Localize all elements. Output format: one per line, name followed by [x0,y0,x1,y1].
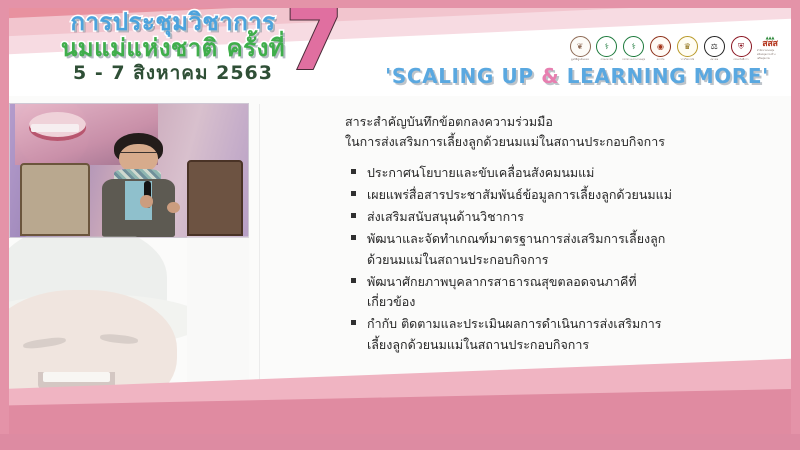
list-item: พัฒนาศักยภาพบุคลากรสาธารณสุขตลอดจนภาคีที… [345,272,775,313]
square-bullet-icon [351,320,356,325]
sponsor-logo-row: ❦ มูลนิธิศูนย์นมแม่ ⚕ กรมอนามัย ⚕ กระทรว… [569,34,783,64]
glasses-icon [120,152,156,159]
slide-content: สาระสำคัญบันทึกข้อตกลงความร่วมมือ ในการส… [345,112,775,357]
slide-header-banner: การประชุมวิชาการ นมแม่แห่งชาติ ครั้งที่ … [9,8,791,96]
photo-chair-right [187,160,243,236]
square-bullet-icon [351,235,356,240]
square-bullet-icon [351,278,356,283]
logo-caption: กรมสวัสดิการ [733,58,748,62]
logo-glyph: ♛ [677,36,698,57]
speaker-hand-right [167,202,180,213]
logo-caption: กรมอนามัย [601,58,614,62]
square-bullet-icon [351,169,356,174]
footer-band [0,434,800,450]
logo-glyph: ❦ [570,36,591,57]
list-item-text: พัฒนาศักยภาพบุคลากรสาธารณสุขตลอดจนภาคีที… [367,272,775,313]
list-item: เผยแพร่สื่อสารประชาสัมพันธ์ข้อมูลการเลี้… [345,185,775,205]
square-bullet-icon [351,191,356,196]
slide-page: การประชุมวิชาการ นมแม่แห่งชาติ ครั้งที่ … [9,8,791,442]
list-item-text: เผยแพร่สื่อสารประชาสัมพันธ์ข้อมูลการเลี้… [367,185,775,205]
conference-title-line1: การประชุมวิชาการ [23,10,323,34]
red-crest-seal-logo: ⛨ กรมสวัสดิการ [730,36,752,62]
list-item-text: กำกับ ติดตามและประเมินผลการดำเนินการส่งเ… [367,314,775,355]
list-item: กำกับ ติดตามและประเมินผลการดำเนินการส่งเ… [345,314,775,355]
content-bullet-list: ประกาศนโยบายและขับเคลื่อนสังคมนมแม่ เผยแ… [345,163,775,355]
speaker-photo [9,103,249,238]
presentation-slide: การประชุมวิชาการ นมแม่แห่งชาติ ครั้งที่ … [0,0,800,450]
logo-glyph: ⚖ [704,36,725,57]
logo-glyph: ◉ [650,36,671,57]
logo-glyph: ⛨ [731,36,752,57]
list-item-text: พัฒนาและจัดทำเกณฑ์มาตรฐานการส่งเสริมการเ… [367,229,775,270]
conference-tagline: 'SCALING UP & LEARNING MORE' [367,64,787,88]
conference-title-line2: นมแม่แห่งชาติ ครั้งที่ [23,36,323,60]
square-bullet-icon [351,213,356,218]
list-item: ส่งเสริมสนับสนุนด้านวิชาการ [345,207,775,227]
logo-caption: สมาคม [710,58,718,62]
list-item: ประกาศนโยบายและขับเคลื่อนสังคมนมแม่ [345,163,775,183]
photo-screen-teeth [31,124,79,132]
conference-date: 5 - 7 สิงหาคม 2563 [23,64,323,83]
list-item-text: ประกาศนโยบายและขับเคลื่อนสังคมนมแม่ [367,163,775,183]
speaker-hand-left [140,195,152,207]
photo-chair-left [20,163,91,236]
logo-caption: สถาบัน [657,58,665,62]
list-item-text: ส่งเสริมสนับสนุนด้านวิชาการ [367,207,775,227]
logo-caption: กระทรวงสาธารณสุข [622,58,645,62]
conference-edition-number: 7 [285,8,343,82]
logo-caption: มูลนิธิศูนย์นมแม่ [571,58,589,62]
department-health-logo: ⚕ กระทรวงสาธารณสุข [623,36,645,62]
royal-crest-logo: ♛ ราชวิทยาลัย [676,36,698,62]
thai-royal-emblem-logo: ❦ มูลนิธิศูนย์นมแม่ [569,36,591,62]
list-item: พัฒนาและจัดทำเกณฑ์มาตรฐานการส่งเสริมการเ… [345,229,775,270]
tagline-ampersand: & [541,64,559,88]
logo-caption: สำนักงานกองทุนสนับสนุนการสร้างเสริมสุขภา… [757,49,783,61]
photo-speaker-figure [91,133,186,237]
black-circle-seal-logo: ⚖ สมาคม [703,36,725,62]
logo-caption: ราชวิทยาลัย [681,58,695,62]
logo-glyph: ⚕ [623,36,644,57]
logo-glyph: สสส [762,40,777,49]
tagline-suffix: LEARNING MORE' [559,64,769,88]
ministry-public-health-logo: ⚕ กรมอนามัย [596,36,618,62]
thai-institution-seal-logo: ◉ สถาบัน [650,36,672,62]
watermark-teeth [43,372,110,382]
column-divider [259,104,260,404]
logo-glyph: ⚕ [596,36,617,57]
tagline-prefix: 'SCALING UP [385,64,541,88]
thaihealth-sss-logo: ▲▲▲ สสส สำนักงานกองทุนสนับสนุนการสร้างเส… [757,36,783,62]
content-heading: สาระสำคัญบันทึกข้อตกลงความร่วมมือ ในการส… [345,112,775,153]
conference-title-block: การประชุมวิชาการ นมแม่แห่งชาติ ครั้งที่ … [23,10,323,83]
